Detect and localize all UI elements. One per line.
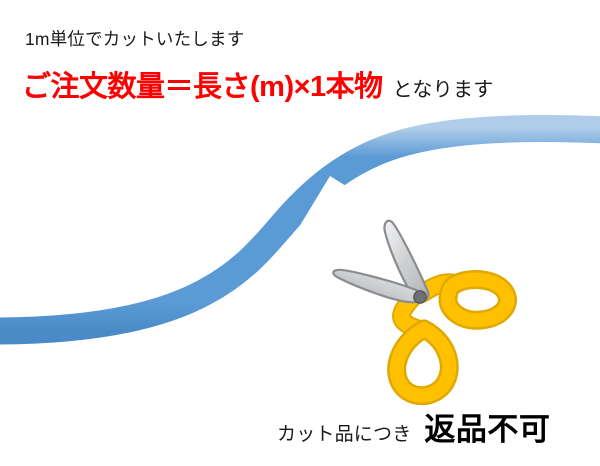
footer-strong-text: 返品不可 xyxy=(424,414,550,445)
formula-line: ご注文数量＝長さ(m)×1本物 となります xyxy=(22,73,494,102)
formula-emphasis-text: ご注文数量＝長さ(m)×1本物 xyxy=(22,73,383,102)
scissors-handle-upper xyxy=(423,280,508,321)
headline-text: 1m単位でカットいたします xyxy=(25,31,244,49)
scissors xyxy=(333,221,507,396)
illustration-canvas xyxy=(0,0,600,466)
cut-notice-graphic: 1m単位でカットいたします ご注文数量＝長さ(m)×1本物 となります カット品… xyxy=(0,0,600,466)
formula-tail-text: となります xyxy=(393,80,494,100)
scissors-pivot-icon xyxy=(414,291,426,303)
footer-line: カット品につき 返品不可 xyxy=(277,414,550,445)
footer-lead-text: カット品につき xyxy=(277,425,411,444)
